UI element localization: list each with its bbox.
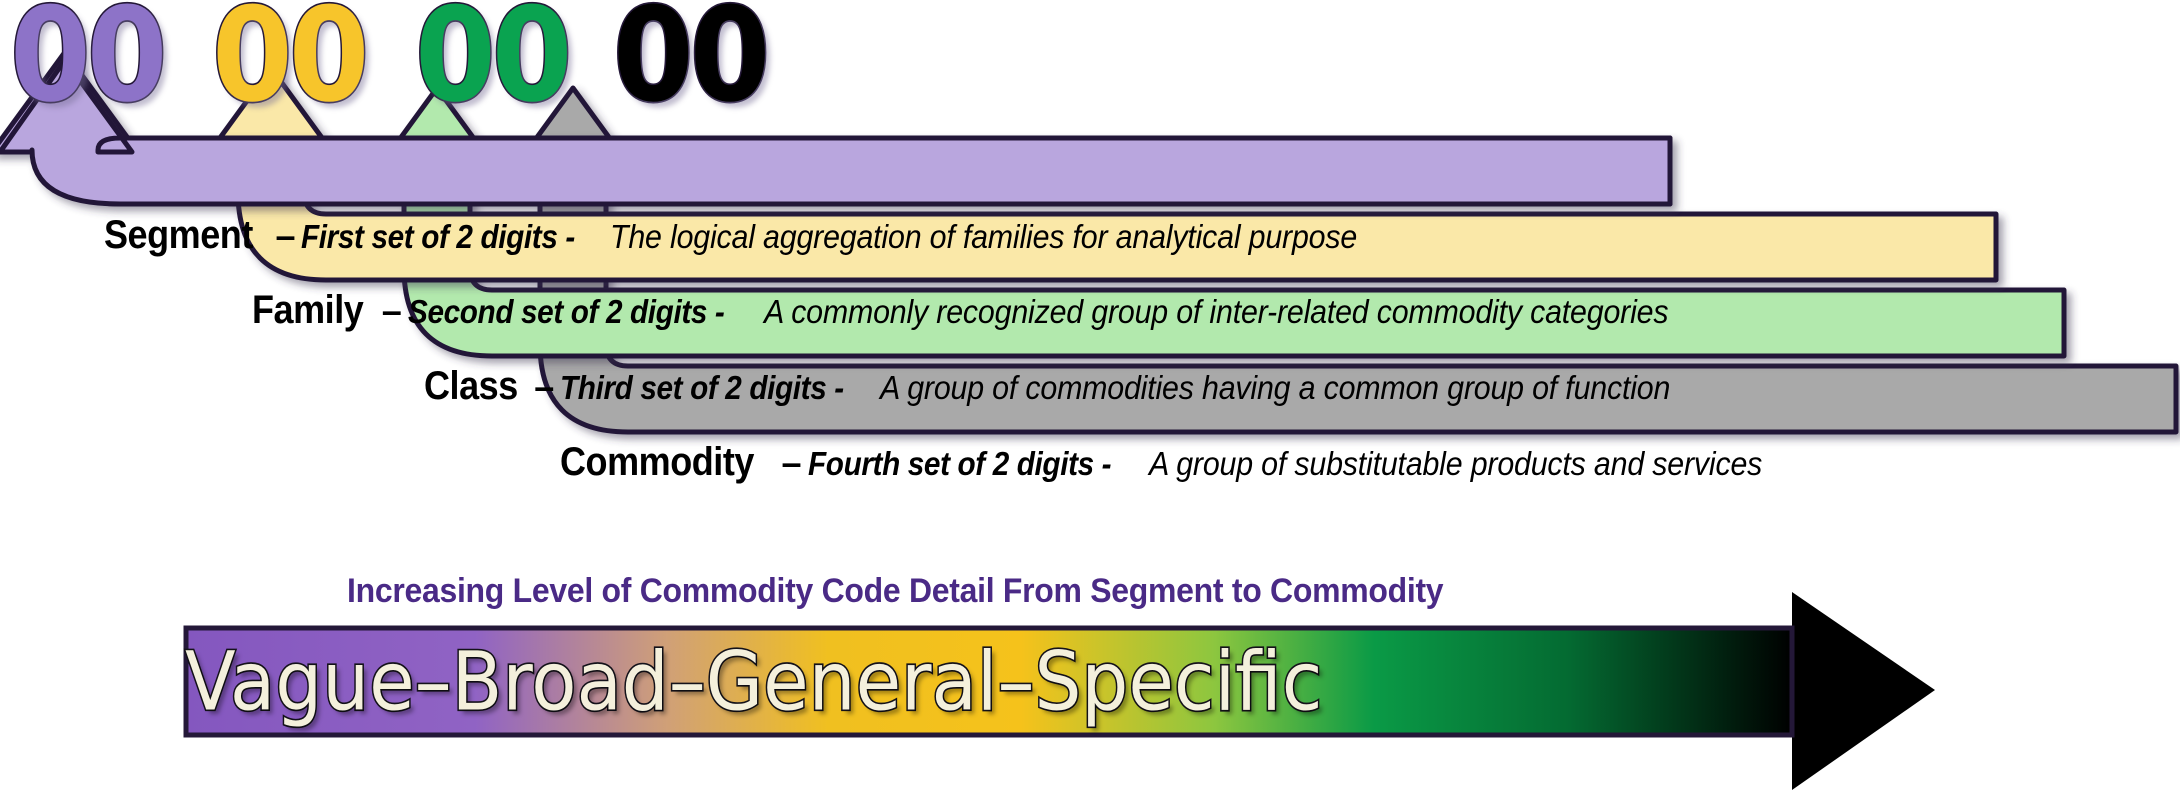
family-label: Family–Second set of 2 digits - A common…	[252, 288, 1747, 333]
class-subtitle: Third set of 2 digits -	[560, 369, 844, 407]
increasing-detail-caption: Increasing Level of Commodity Code Detai…	[190, 572, 1600, 611]
class-description: A group of commodities having a common g…	[880, 369, 1670, 407]
family-dash: –	[376, 290, 408, 331]
increasing-detail-arrow	[186, 592, 1935, 790]
family-subtitle: Second set of 2 digits -	[408, 293, 724, 331]
family-digits: 00	[212, 0, 365, 114]
segment-label: Segment–First set of 2 digits - The logi…	[104, 213, 1422, 258]
scale-gradient-bar	[186, 628, 1792, 735]
commodity-subtitle: Fourth set of 2 digits -	[808, 445, 1111, 483]
segment-description: The logical aggregation of families for …	[610, 218, 1357, 256]
caption-text: Increasing Level of Commodity Code Detai…	[347, 572, 1443, 611]
segment-digits: 00	[10, 0, 163, 114]
class-dash: –	[528, 366, 560, 407]
class-digits: 00	[415, 0, 568, 114]
commodity-digits: 00	[613, 0, 766, 114]
segment-title: Segment	[104, 213, 253, 258]
diagram-canvas: 00 00 00 00 Segment–First set of 2 digit…	[0, 0, 2180, 792]
class-title: Class	[424, 364, 518, 409]
commodity-description: A group of substitutable products and se…	[1149, 445, 1762, 483]
commodity-dash: –	[776, 442, 808, 483]
commodity-title: Commodity	[560, 440, 754, 485]
segment-subtitle: First set of 2 digits -	[301, 218, 575, 256]
family-title: Family	[252, 288, 363, 333]
class-label: Class–Third set of 2 digits - A group of…	[424, 364, 1739, 409]
commodity-label: Commodity–Fourth set of 2 digits - A gro…	[560, 440, 1815, 485]
family-description: A commonly recognized group of inter-rel…	[764, 293, 1668, 331]
segment-dash: –	[269, 215, 301, 256]
